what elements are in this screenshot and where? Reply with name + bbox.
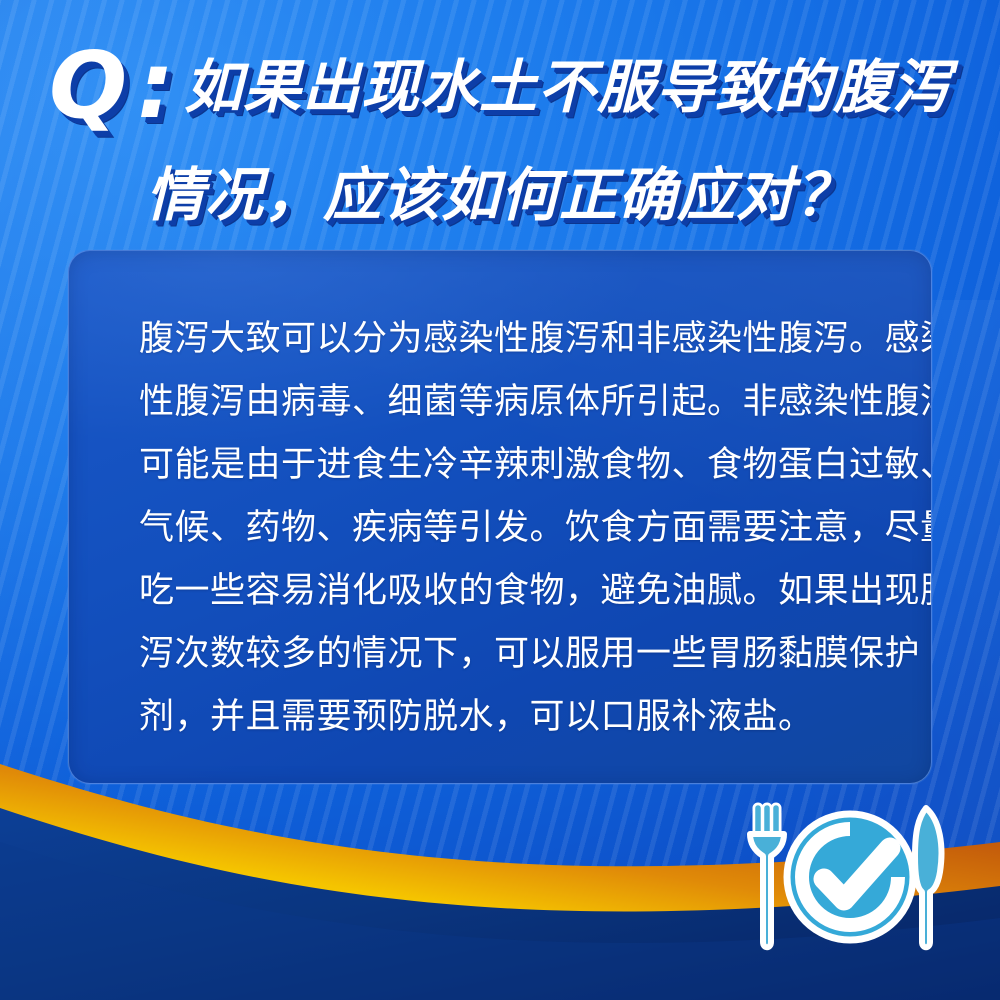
fork-icon bbox=[750, 808, 784, 947]
q-label: Q bbox=[49, 40, 125, 132]
q-colon-icon: : bbox=[137, 40, 172, 132]
poster-root: Q : 如果出现水土不服导致的腹泻 情况，应该如何正确应对？ 腹泻大致可以分为感… bbox=[0, 0, 1000, 1000]
knife-icon bbox=[915, 808, 941, 947]
plate-fork-knife-check-icon bbox=[740, 800, 960, 960]
answer-line: 气候、药物、疾病等引发。饮食方面需要注意，尽量 bbox=[139, 496, 873, 559]
question-heading: Q : 如果出现水土不服导致的腹泻 情况，应该如何正确应对？ bbox=[0, 42, 1000, 232]
answer-text-block: 腹泻大致可以分为感染性腹泻和非感染性腹泻。感染 性腹泻由病毒、细菌等病原体所引起… bbox=[69, 251, 931, 748]
answer-line: 剂，并且需要预防脱水，可以口服补液盐。 bbox=[139, 685, 873, 748]
plate-with-check-icon bbox=[787, 814, 913, 940]
answer-line: 可能是由于进食生冷辛辣刺激食物、食物蛋白过敏、 bbox=[139, 433, 873, 496]
answer-line: 泻次数较多的情况下，可以服用一些胃肠黏膜保护 bbox=[139, 622, 873, 685]
heading-line-2: 情况，应该如何正确应对？ bbox=[0, 148, 1000, 232]
answer-line: 吃一些容易消化吸收的食物，避免油腻。如果出现腹 bbox=[139, 559, 873, 622]
answer-line: 腹泻大致可以分为感染性腹泻和非感染性腹泻。感染 bbox=[139, 307, 873, 370]
answer-card: 腹泻大致可以分为感染性腹泻和非感染性腹泻。感染 性腹泻由病毒、细菌等病原体所引起… bbox=[68, 250, 932, 784]
answer-line: 性腹泻由病毒、细菌等病原体所引起。非感染性腹泻 bbox=[139, 370, 873, 433]
heading-line-1: 如果出现水土不服导致的腹泻 bbox=[184, 59, 951, 117]
